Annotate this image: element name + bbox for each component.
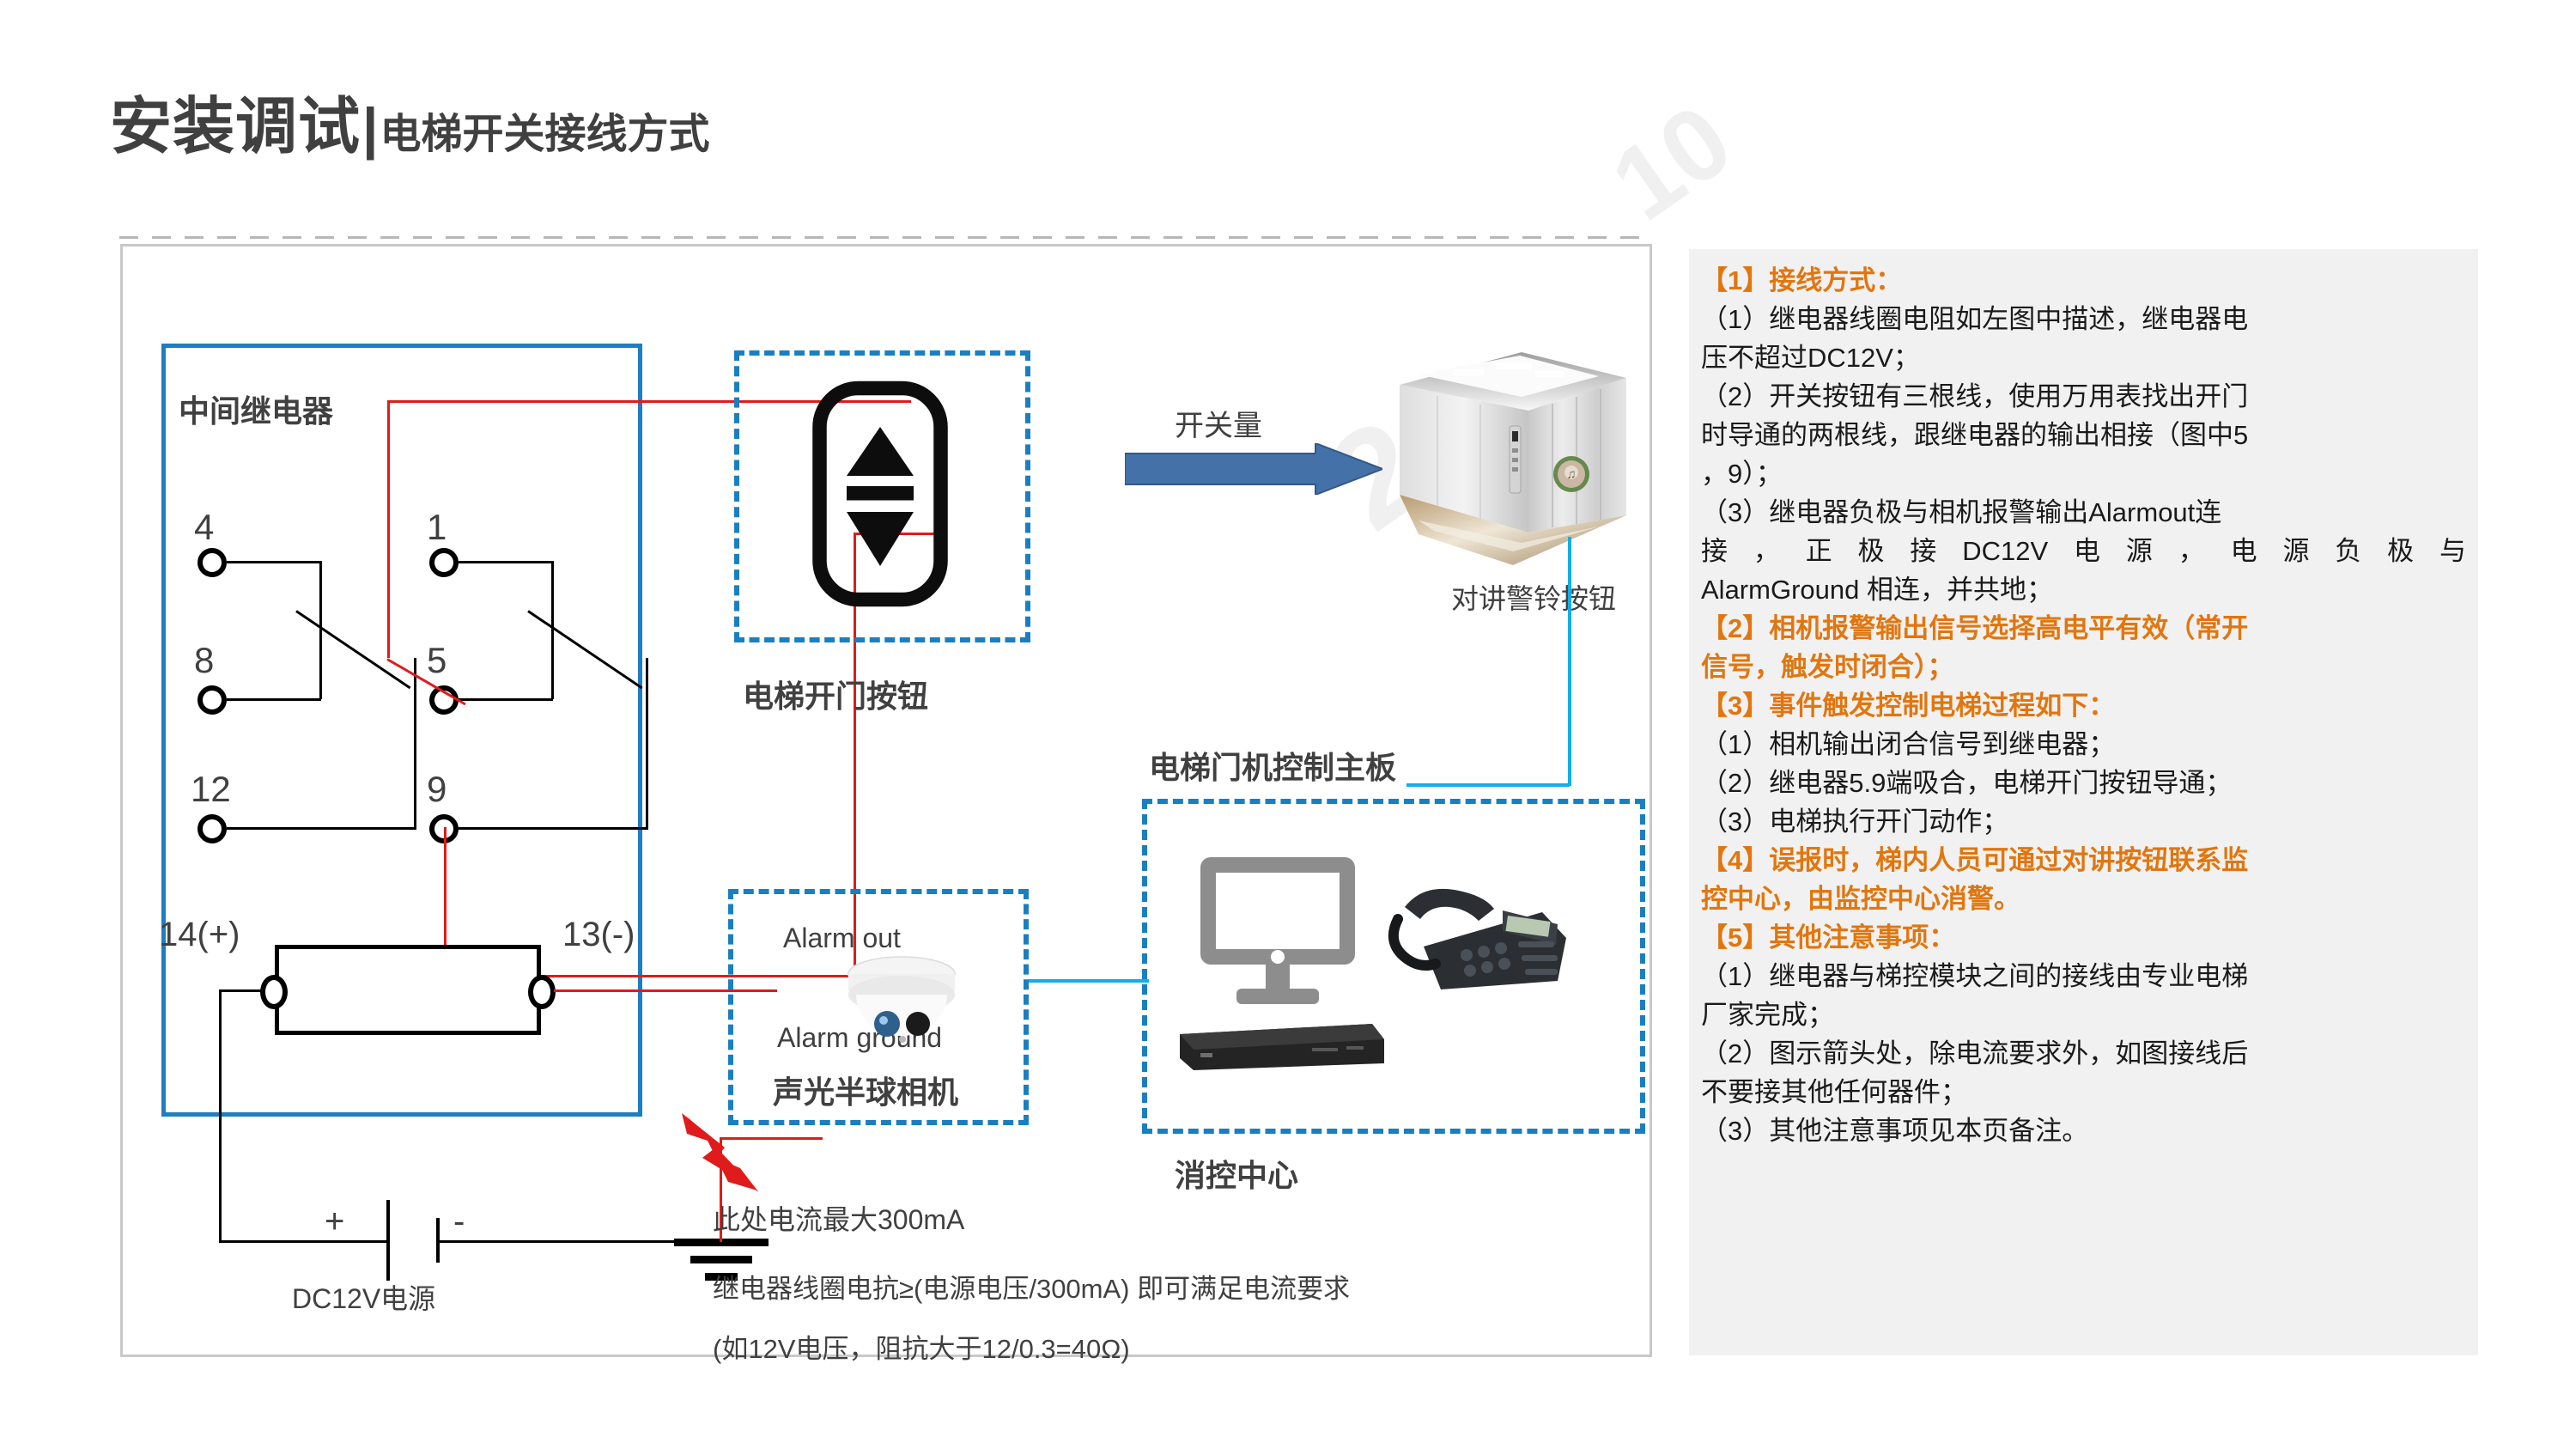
wire-8-up bbox=[319, 670, 322, 699]
terminal-label-12: 12 bbox=[191, 769, 231, 810]
coil-terminal-14[interactable] bbox=[260, 975, 288, 1009]
note-line: ，9）； bbox=[1701, 454, 2466, 493]
terminal-label-8: 8 bbox=[194, 640, 214, 681]
page-title: 安装调试|电梯开关接线方式 bbox=[110, 76, 710, 166]
note-line: 接，正极接DC12V电源，电源负极与 bbox=[1701, 532, 2466, 570]
terminal-label-4: 4 bbox=[194, 507, 214, 548]
cyan-line-intercom-horiz bbox=[1406, 783, 1570, 787]
note-line: （2）开关按钮有三根线，使用万用表找出开门 bbox=[1701, 377, 2466, 416]
wire-5-top bbox=[459, 698, 553, 701]
terminal-4[interactable] bbox=[197, 548, 227, 577]
coil-label-13: 13(-) bbox=[562, 916, 635, 954]
note-line: （1）继电器线圈电阻如左图中描述，继电器电 bbox=[1701, 300, 2466, 338]
wire-coil-14-left bbox=[222, 989, 263, 992]
wire-14-down bbox=[219, 989, 222, 1242]
wire-4-top bbox=[227, 561, 321, 563]
note-line: 控中心，由监控中心消警。 bbox=[1701, 880, 2466, 918]
coil-terminal-13[interactable] bbox=[528, 975, 556, 1009]
terminal-8[interactable] bbox=[197, 685, 227, 715]
note-line: （3）电梯执行开门动作； bbox=[1701, 802, 2466, 841]
wire-1-down bbox=[551, 561, 554, 681]
note-line: AlarmGround 相连，并共地； bbox=[1701, 570, 2466, 609]
battery-plate-positive bbox=[386, 1200, 390, 1281]
ground-bar-2 bbox=[690, 1256, 752, 1263]
door-control-board-label: 电梯门机控制主板 bbox=[1149, 743, 1396, 788]
terminal-label-5: 5 bbox=[427, 640, 447, 681]
battery-plus-sign: + bbox=[325, 1202, 344, 1241]
title-separator: | bbox=[361, 95, 380, 161]
note-line: （1）相机输出闭合信号到继电器； bbox=[1701, 725, 2466, 764]
watermark: 10 bbox=[1590, 81, 1752, 244]
fire-control-center-label: 消控中心 bbox=[1175, 1151, 1298, 1196]
elevator-updown-button-icon bbox=[803, 378, 957, 610]
max-current-note: 此处电流最大300mA bbox=[713, 1198, 964, 1238]
cyan-line-intercom-vert bbox=[1568, 537, 1571, 786]
wire-battery-pos bbox=[219, 1240, 387, 1243]
svg-text:♫: ♫ bbox=[1566, 467, 1576, 482]
power-supply-label: DC12V电源 bbox=[292, 1277, 435, 1317]
notes-panel: 【1】接线方式： （1）继电器线圈电阻如左图中描述，继电器电 压不超过DC12V… bbox=[1689, 249, 2478, 1355]
terminal-label-1: 1 bbox=[427, 507, 447, 548]
terminal-1[interactable] bbox=[429, 548, 459, 577]
title-main: 安装调试 bbox=[110, 76, 361, 166]
dome-camera-label: 声光半球相机 bbox=[773, 1068, 958, 1112]
note-line: （2）继电器5.9端吸合，电梯开门按钮导通； bbox=[1701, 764, 2466, 802]
note-line: 【4】误报时，梯内人员可通过对讲按钮联系监 bbox=[1701, 841, 2466, 880]
note-line: 【2】相机报警输出信号选择高电平有效（常开 bbox=[1701, 609, 2466, 648]
battery-minus-sign: - bbox=[453, 1202, 465, 1241]
note-line: 厂家完成； bbox=[1701, 995, 2466, 1034]
note-line: 信号，触发时闭合）； bbox=[1701, 648, 2466, 686]
note-line: 不要接其他任何器件； bbox=[1701, 1073, 2466, 1111]
note-line: 压不超过DC12V； bbox=[1701, 338, 2466, 377]
elevator-cab-image: ♫ bbox=[1384, 344, 1642, 601]
wire-12-up bbox=[414, 658, 416, 830]
wire-8-top bbox=[227, 698, 321, 701]
note-line: （3）其他注意事项见本页备注。 bbox=[1701, 1111, 2466, 1150]
note-line: 【5】其他注意事项： bbox=[1701, 918, 2466, 957]
coil-label-14: 14(+) bbox=[159, 916, 240, 954]
note-line: 【3】事件触发控制电梯过程如下： bbox=[1701, 686, 2466, 725]
wire-4-down bbox=[319, 561, 322, 681]
switch-quantity-label: 开关量 bbox=[1175, 402, 1262, 444]
nvr-icon bbox=[1175, 1014, 1389, 1082]
note-line: （1）继电器与梯控模块之间的接线由专业电梯 bbox=[1701, 957, 2466, 995]
intercom-alarm-button-label: 对讲警铃按钮 bbox=[1451, 577, 1616, 617]
note-line: （3）继电器负极与相机报警输出Alarmout连 bbox=[1701, 493, 2466, 532]
note-line: （2）图示箭头处，除电流要求外，如图接线后 bbox=[1701, 1034, 2466, 1073]
terminal-label-9: 9 bbox=[427, 769, 447, 810]
coil-impedance-note: 继电器线圈电抗≥(电源电压/300mA) 即可满足电流要求 bbox=[713, 1267, 1350, 1306]
wire-1-top bbox=[459, 561, 553, 563]
dome-camera-icon bbox=[820, 945, 983, 1065]
impedance-example-note: (如12V电压，阻抗大于12/0.3=40Ω) bbox=[713, 1327, 1130, 1366]
note-line: 【1】接线方式： bbox=[1701, 261, 2466, 300]
telephone-icon bbox=[1374, 859, 1571, 1005]
wire-5-up bbox=[551, 670, 554, 699]
relay-title-label: 中间继电器 bbox=[179, 387, 333, 431]
terminal-12[interactable] bbox=[197, 814, 227, 843]
monitor-icon bbox=[1192, 850, 1364, 1014]
switch-signal-arrow bbox=[1125, 443, 1382, 495]
cyan-line-camera-to-board bbox=[1029, 979, 1149, 983]
relay-coil bbox=[275, 945, 541, 1035]
elevator-open-button-label: 电梯开门按钮 bbox=[743, 672, 928, 716]
wire-12-top bbox=[227, 827, 416, 830]
note-line: 时导通的两根线，跟继电器的输出相接（图中5 bbox=[1701, 416, 2466, 454]
red-wire-5-vert bbox=[387, 400, 390, 658]
title-subtitle: 电梯开关接线方式 bbox=[380, 100, 709, 160]
wire-9-up bbox=[646, 658, 648, 830]
wire-9-top bbox=[459, 827, 647, 830]
